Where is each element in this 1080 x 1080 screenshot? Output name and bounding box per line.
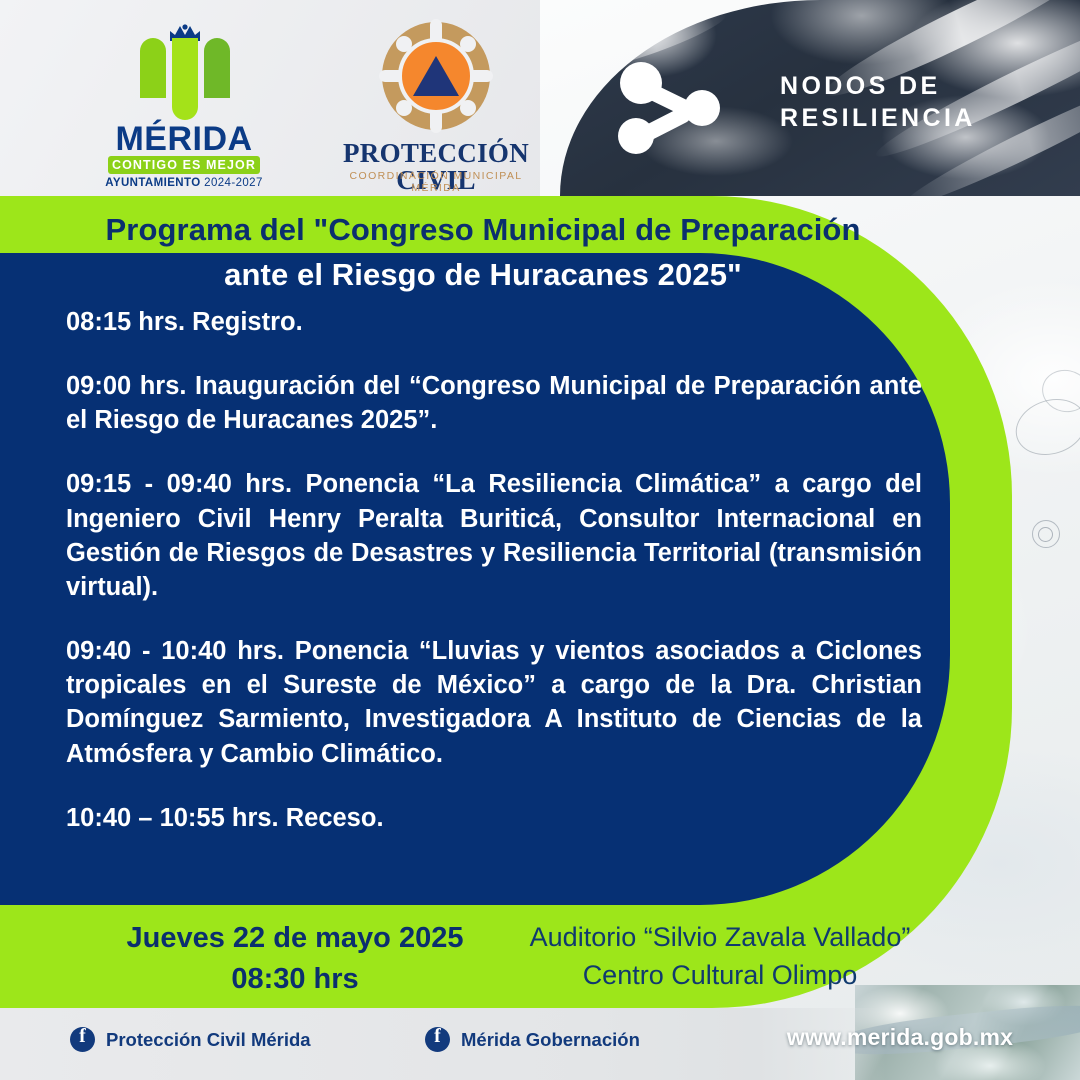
facebook-merida-gobernacion[interactable]: Mérida Gobernación [425,1027,640,1052]
program-item: 10:40 – 10:55 hrs. Receso. [66,801,922,835]
facebook-handle-1: Protección Civil Mérida [106,1029,311,1051]
admin-years: 2024-2027 [204,177,263,189]
facebook-proteccion-civil[interactable]: Protección Civil Mérida [70,1027,311,1052]
proteccion-civil-subtitle: COORDINACIÓN MUNICIPAL MÉRIDA [330,170,542,194]
admin-label: AYUNTAMIENTO [105,177,200,189]
poster-canvas: MÉRIDA CONTIGO ES MEJOR AYUNTAMIENTO 202… [0,0,1080,1080]
logo-row: MÉRIDA CONTIGO ES MEJOR AYUNTAMIENTO 202… [0,0,560,196]
website-url[interactable]: www.merida.gob.mx [775,1024,1025,1051]
program-item: 09:15 - 09:40 hrs. Ponencia “La Resilien… [66,467,922,604]
storm-eye-outline [1038,527,1053,542]
nodos-line2: RESILIENCIA [780,102,976,134]
program-item: 08:15 hrs. Registro. [66,305,922,339]
proteccion-civil-logo: PROTECCIÓN CIVIL COORDINACIÓN MUNICIPAL … [330,22,542,190]
page-title-line2: ante el Riesgo de Huracanes 2025" [0,257,966,293]
venue-name: Auditorio “Silvio Zavala Vallado” [500,918,940,956]
merida-tagline: CONTIGO ES MEJOR [108,156,260,174]
facebook-icon [70,1027,95,1052]
network-node [684,90,720,126]
merida-logo: MÉRIDA CONTIGO ES MEJOR AYUNTAMIENTO 202… [98,24,270,190]
merida-administration-label: AYUNTAMIENTO 2024-2027 [98,177,270,189]
facebook-icon [425,1027,450,1052]
event-datetime: Jueves 22 de mayo 2025 08:30 hrs [60,918,530,1000]
program-list: 08:15 hrs. Registro. 09:00 hrs. Inaugura… [66,305,922,835]
event-venue: Auditorio “Silvio Zavala Vallado” Centro… [500,918,940,995]
event-time: 08:30 hrs [60,959,530,1000]
program-item: 09:40 - 10:40 hrs. Ponencia “Lluvias y v… [66,634,922,771]
civil-protection-triangle-icon [413,56,459,96]
page-title-line1: Programa del "Congreso Municipal de Prep… [0,212,966,248]
facebook-handle-2: Mérida Gobernación [461,1029,640,1051]
network-nodes-icon [620,62,662,104]
program-item: 09:00 hrs. Inauguración del “Congreso Mu… [66,369,922,437]
nodos-line1: NODOS DE [780,70,976,102]
nodos-de-resiliencia-logo: NODOS DE RESILIENCIA [600,46,1020,156]
network-node [618,118,654,154]
event-date: Jueves 22 de mayo 2025 [60,918,530,959]
merida-m-leaf-icon [140,38,230,120]
venue-location: Centro Cultural Olimpo [500,956,940,994]
merida-wordmark: MÉRIDA [98,122,270,156]
nodos-label: NODOS DE RESILIENCIA [780,70,976,134]
